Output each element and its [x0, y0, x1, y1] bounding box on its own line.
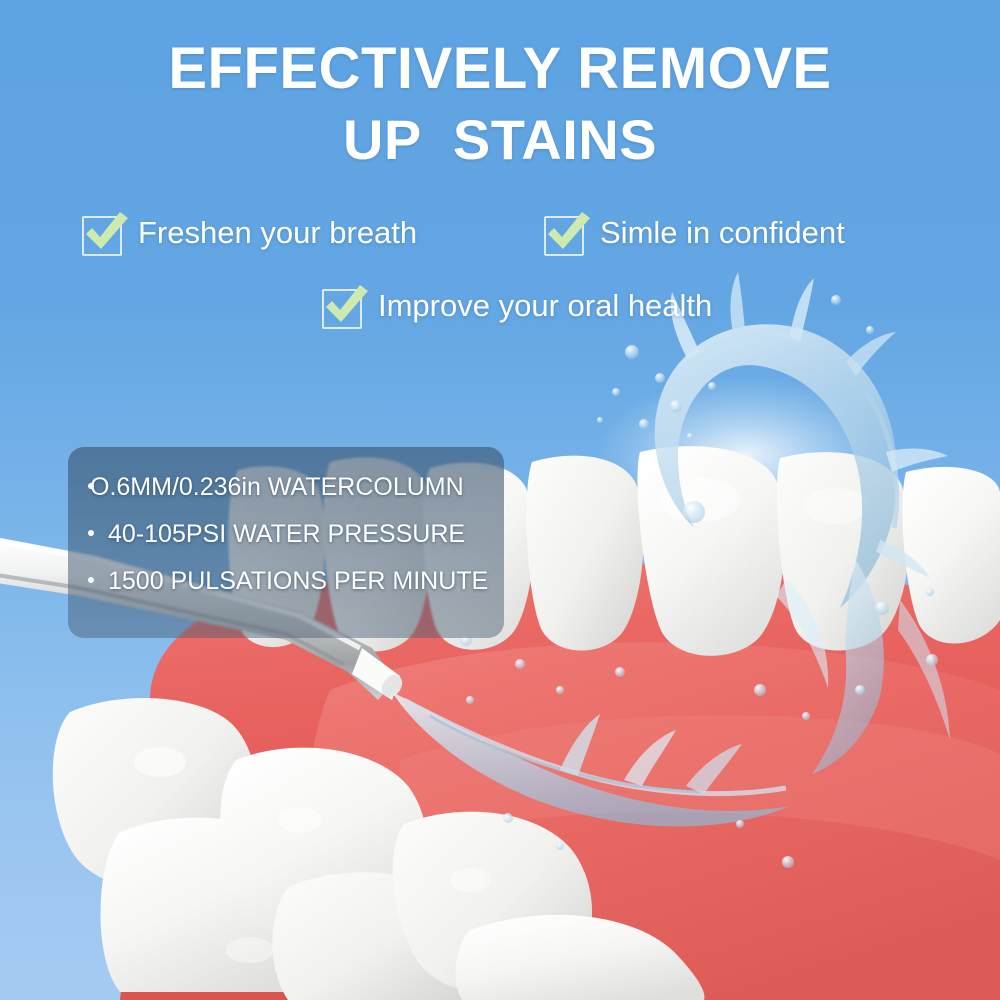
spec-text: O.6MM/0.236in WATERCOLUMN — [90, 473, 464, 501]
spec-text: 40-105PSI WATER PRESSURE — [108, 520, 465, 548]
headline-line-2: UP STAINS — [0, 110, 1000, 170]
feature-label: Freshen your breath — [138, 215, 417, 251]
spec-row: O.6MM/0.236in WATERCOLUMN — [88, 473, 504, 501]
bullet-icon — [88, 483, 94, 489]
feature-item-oral-health: Improve your oral health — [318, 283, 712, 329]
feature-item-simle-confident: Simle in confident — [540, 210, 845, 256]
spec-row: 1500 PULSATIONS PER MINUTE — [88, 567, 504, 595]
feature-item-freshen-breath: Freshen your breath — [78, 210, 417, 256]
bullet-icon — [88, 577, 94, 583]
checkmark-icon — [78, 210, 124, 256]
spec-row: 40-105PSI WATER PRESSURE — [88, 520, 504, 548]
bullet-icon — [88, 530, 94, 536]
product-marketing-image: EFFECTIVELY REMOVE UP STAINS Freshen you… — [0, 0, 1000, 1000]
feature-label: Simle in confident — [600, 215, 845, 251]
feature-label: Improve your oral health — [378, 288, 712, 324]
checkmark-icon — [540, 210, 586, 256]
checkmark-icon — [318, 283, 364, 329]
specification-panel: O.6MM/0.236in WATERCOLUMN 40-105PSI WATE… — [68, 447, 504, 638]
headline-line-1: EFFECTIVELY REMOVE — [0, 38, 1000, 100]
spec-text: 1500 PULSATIONS PER MINUTE — [108, 567, 488, 595]
